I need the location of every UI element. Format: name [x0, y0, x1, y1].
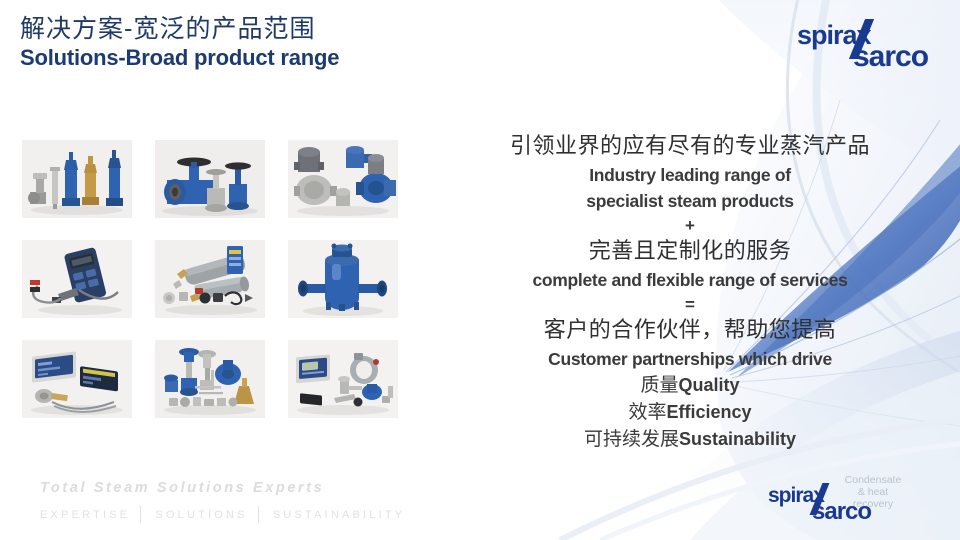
outcome-sustainability-cn: 可持续发展: [584, 428, 679, 450]
product-tile-valve-range: [155, 340, 265, 418]
footer-pillar-expertise: EXPERTISE: [40, 509, 130, 521]
footer-divider-1: [140, 506, 141, 523]
outcome-efficiency-cn: 效率: [628, 401, 666, 423]
message-line-cn-2: 完善且定制化的服务: [480, 237, 900, 267]
footer-divider-2: [258, 506, 259, 523]
slide-canvas: 解决方案-宽泛的产品范围 Solutions-Broad product ran…: [0, 0, 960, 540]
footer-pillars: EXPERTISE SOLUTIONS SUSTAINABILITY: [40, 506, 405, 523]
spirax-sarco-logo-top: spirax sarco: [797, 22, 928, 72]
footer-pillar-sustainability: SUSTAINABILITY: [273, 509, 406, 521]
message-line-en-4: Customer partnerships which drive: [480, 346, 900, 372]
message-block: 引领业界的应有尽有的专业蒸汽产品 Industry leading range …: [480, 132, 900, 453]
page-title-english: Solutions-Broad product range: [20, 44, 339, 71]
message-line-en-1: Industry leading range of: [480, 162, 900, 188]
product-tile-condensate-recovery-pump: [288, 240, 398, 318]
product-tile-safety-relief-valves: [22, 140, 132, 218]
product-image-grid: [22, 140, 402, 418]
outcome-sustainability: 可持续发展Sustainability: [480, 426, 900, 453]
outcome-sustainability-en: Sustainability: [679, 429, 796, 449]
outcome-efficiency: 效率Efficiency: [480, 399, 900, 426]
footer-pillar-solutions: SOLUTIONS: [155, 509, 247, 521]
product-tile-portable-test-instrument: [22, 240, 132, 318]
outcome-quality-en: Quality: [679, 375, 740, 395]
spirax-sarco-logo-bottom: spirax sarco: [768, 485, 871, 524]
outcome-efficiency-en: Efficiency: [666, 402, 751, 422]
footer: Total Steam Solutions Experts EXPERTISE …: [40, 480, 405, 523]
message-line-cn-3: 客户的合作伙伴，帮助您提高: [480, 316, 900, 346]
message-operator-equals: =: [480, 293, 900, 316]
message-operator-plus: +: [480, 214, 900, 237]
message-line-en-3: complete and flexible range of services: [480, 267, 900, 293]
outcome-quality-cn: 质量: [640, 374, 678, 396]
page-title: 解决方案-宽泛的产品范围 Solutions-Broad product ran…: [20, 14, 339, 71]
outcome-quality: 质量Quality: [480, 372, 900, 399]
product-tile-control-valves: [155, 140, 265, 218]
product-tile-boiler-level-controllers: [22, 340, 132, 418]
logo-text-sarco: sarco: [853, 42, 928, 72]
footer-tagline: Total Steam Solutions Experts: [40, 480, 405, 496]
product-tile-flow-metering: [288, 340, 398, 418]
product-tile-steam-traps: [288, 140, 398, 218]
page-title-chinese: 解决方案-宽泛的产品范围: [20, 14, 339, 44]
message-line-cn-1: 引领业界的应有尽有的专业蒸汽产品: [480, 132, 900, 162]
product-tile-heat-exchangers: [155, 240, 265, 318]
message-line-en-2: specialist steam products: [480, 188, 900, 214]
